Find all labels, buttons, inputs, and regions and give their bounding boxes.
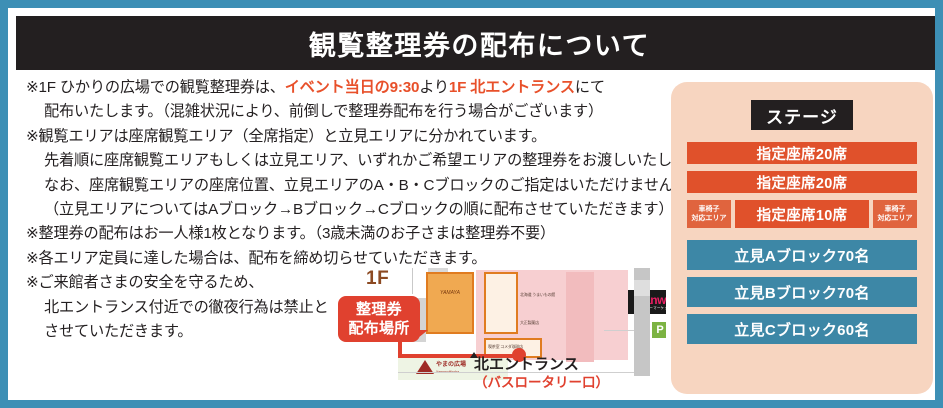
note-line: ※観覧エリアは座席観覧エリア（全席指定）と立見エリアに分かれています。 — [26, 125, 666, 149]
note-line: （立見エリアについてはAブロック→Bブロック→Cブロックの順に配布させていただき… — [26, 198, 666, 222]
seat-row-center: 指定座席10席 — [735, 200, 869, 228]
wheelchair-area-left: 車椅子 対応エリア — [687, 200, 731, 228]
wheelchair-area-right: 車椅子 対応エリア — [873, 200, 917, 228]
note-line: 先着順に座席観覧エリアもしくは立見エリア、いずれかご希望エリアの整理券をお渡しい… — [26, 149, 666, 173]
note-text: なお、座席観覧エリアの座席位置、立見エリアのA・B・Cブロックのご指定はいただけ… — [44, 177, 689, 194]
header-bar: 観覧整理券の配布について — [16, 16, 943, 70]
map-store-yamaya: YAMAYA — [426, 272, 474, 334]
ticket-distribution-callout: 整理券 配布場所 — [338, 296, 420, 342]
note-text: ※ご来館者さまの安全を守るため、 — [26, 274, 263, 291]
note-highlight: イベント当日の9:30 — [285, 79, 420, 96]
note-line: なお、座席観覧エリアの座席位置、立見エリアのA・B・Cブロックのご指定はいただけ… — [26, 174, 666, 198]
entrance-sub: （バスロータリー口） — [474, 374, 609, 391]
seating-panel: ステージ 指定座席20席 指定座席20席 車椅子 対応エリア 指定座席10席 車… — [671, 82, 933, 394]
note-line: 配布いたします。（混雑状況により、前倒しで整理券配布を行う場合がございます） — [26, 100, 666, 124]
yamaya-label: YAMAYA — [428, 290, 472, 297]
seat-row-label: 指定座席20席 — [757, 143, 848, 164]
note-text: （立見エリアについてはAブロック→Bブロック→Cブロックの順に配布させていただき… — [44, 201, 673, 218]
map-shop-label-b: 大正製薬店 — [520, 320, 539, 325]
map-divider-east — [604, 330, 634, 331]
note-highlight: 1F 北エントランス — [449, 79, 575, 96]
poster-container: 観覧整理券の配布について ※1F ひかりの広場での観覧整理券は、イベント当日の9… — [0, 0, 943, 408]
parking-icon: P — [652, 322, 666, 338]
seat-row-label: 指定座席20席 — [757, 172, 848, 193]
note-text: ※整理券の配布はお一人様1枚となります。（3歳未満のお子さまは整理券不要） — [26, 225, 555, 242]
plaza-label-jp: やまの広場 — [436, 362, 466, 369]
floor-label: 1F — [366, 268, 389, 290]
entrance-name: 北エントランス — [474, 356, 609, 374]
map-road-east-gap — [634, 280, 650, 296]
standing-block-label: 立見Bブロック70名 — [734, 282, 870, 303]
entrance-caption: 北エントランス （バスロータリー口） — [474, 356, 609, 391]
callout-line-1: 整理券 — [356, 300, 402, 319]
standing-block-label: 立見Aブロック70名 — [734, 245, 870, 266]
seat-row: 指定座席20席 — [687, 142, 917, 164]
note-text: ※各エリア定員に達した場合は、配布を締め切らせていただきます。 — [26, 250, 486, 267]
map-shop-label-a: 北海道 うまいもの館 — [520, 292, 555, 297]
seat-row-label: 指定座席10席 — [757, 204, 848, 225]
note-text: ※観覧エリアは座席観覧エリア（全席指定）と立見エリアに分かれています。 — [26, 128, 546, 145]
note-text: にて — [575, 79, 605, 96]
note-text: 先着順に座席観覧エリアもしくは立見エリア、いずれかご希望エリアの整理券をお渡しい… — [44, 152, 715, 169]
stage-label: ステージ — [766, 103, 838, 128]
page-title: 観覧整理券の配布について — [309, 24, 650, 63]
stage-block: ステージ — [751, 100, 853, 130]
wheelchair-label-line2: 対応エリア — [878, 214, 913, 223]
parking-letter: P — [656, 325, 663, 336]
seat-row: 指定座席20席 — [687, 171, 917, 193]
note-text: させていただきます。 — [44, 323, 192, 340]
standing-block-c: 立見Cブロック60名 — [687, 314, 917, 344]
note-line: ※1F ひかりの広場での観覧整理券は、イベント当日の9:30より1F 北エントラ… — [26, 76, 666, 100]
map-building-west — [398, 268, 413, 294]
note-text: 配布いたします。（混雑状況により、前倒しで整理券配布を行う場合がございます） — [44, 103, 603, 120]
wheelchair-label-line1: 車椅子 — [885, 205, 906, 214]
wheelchair-label-line2: 対応エリア — [692, 214, 727, 223]
note-text: 北エントランス付近での徹夜行為は禁止と — [44, 299, 328, 316]
callout-line-2: 配布場所 — [348, 319, 409, 338]
standing-block-a: 立見Aブロック70名 — [687, 240, 917, 270]
map-shop-strip — [484, 272, 518, 334]
standing-block-label: 立見Cブロック60名 — [734, 319, 870, 340]
note-line: ※整理券の配布はお一人様1枚となります。（3歳未満のお子さまは整理券不要） — [26, 222, 666, 246]
plaza-label: やまの広場 YamanoHiroba — [436, 362, 466, 376]
standing-block-b: 立見Bブロック70名 — [687, 277, 917, 307]
note-text: ※1F ひかりの広場での観覧整理券は、 — [26, 79, 285, 96]
note-text: より — [419, 79, 449, 96]
map-corridor — [566, 272, 594, 362]
seat-row-with-wheelchair: 車椅子 対応エリア 指定座席10席 車椅子 対応エリア — [687, 200, 917, 228]
wheelchair-label-line1: 車椅子 — [699, 205, 720, 214]
